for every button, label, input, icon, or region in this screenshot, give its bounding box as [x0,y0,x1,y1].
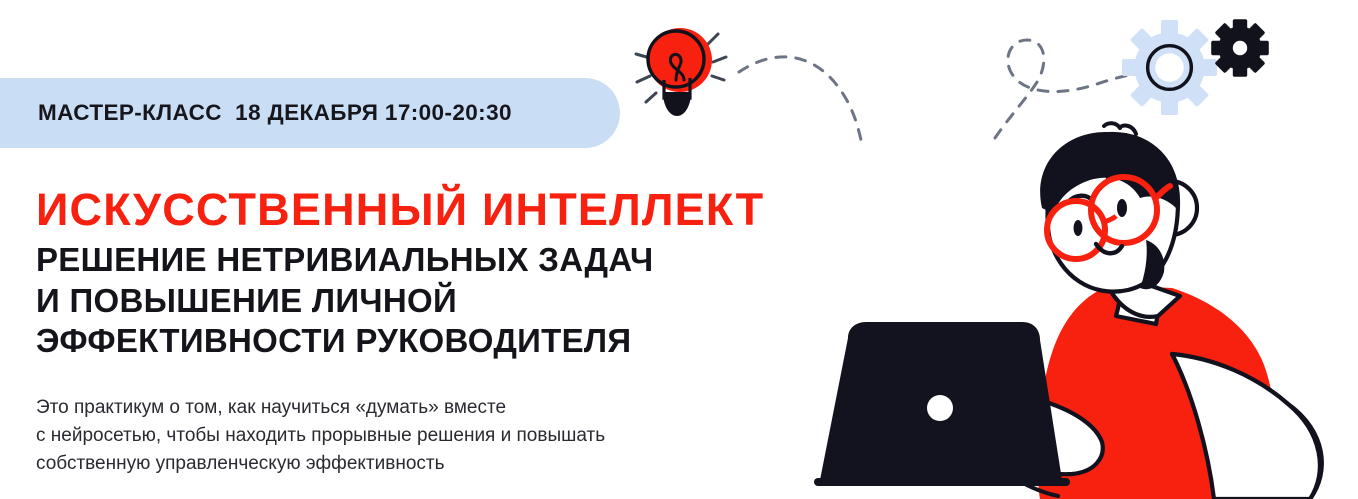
page-title: ИСКУССТВЕННЫЙ ИНТЕЛЛЕКТ [36,186,836,233]
gear-small-icon [1210,18,1270,78]
subtitle-block: РЕШЕНИЕ НЕТРИВИАЛЬНЫХ ЗАДАЧ И ПОВЫШЕНИЕ … [36,240,836,361]
event-date-badge: МАСТЕР-КЛАСС 18 ДЕКАБРЯ 17:00-20:30 [0,78,620,148]
description-line: собственную управленческую эффективность [36,450,836,478]
headline-block: ИСКУССТВЕННЫЙ ИНТЕЛЛЕКТ РЕШЕНИЕ НЕТРИВИА… [36,186,836,361]
description-line: с нейросетью, чтобы находить прорывные р… [36,422,836,450]
event-date-badge-label: МАСТЕР-КЛАСС 18 ДЕКАБРЯ 17:00-20:30 [38,100,512,126]
description-paragraph: Это практикум о том, как научиться «дума… [36,394,836,478]
description-line: Это практикум о том, как научиться «дума… [36,394,836,422]
subtitle-line: РЕШЕНИЕ НЕТРИВИАЛЬНЫХ ЗАДАЧ [36,240,836,280]
man-with-laptop-illustration [810,120,1358,499]
subtitle-line: ЭФФЕКТИВНОСТИ РУКОВОДИТЕЛЯ [36,321,836,361]
gear-large-icon [1122,20,1217,115]
lightbulb-icon [618,12,738,127]
subtitle-line: И ПОВЫШЕНИЕ ЛИЧНОЙ [36,281,836,321]
promo-poster: МАСТЕР-КЛАСС 18 ДЕКАБРЯ 17:00-20:30 ИСКУ… [0,0,1358,499]
